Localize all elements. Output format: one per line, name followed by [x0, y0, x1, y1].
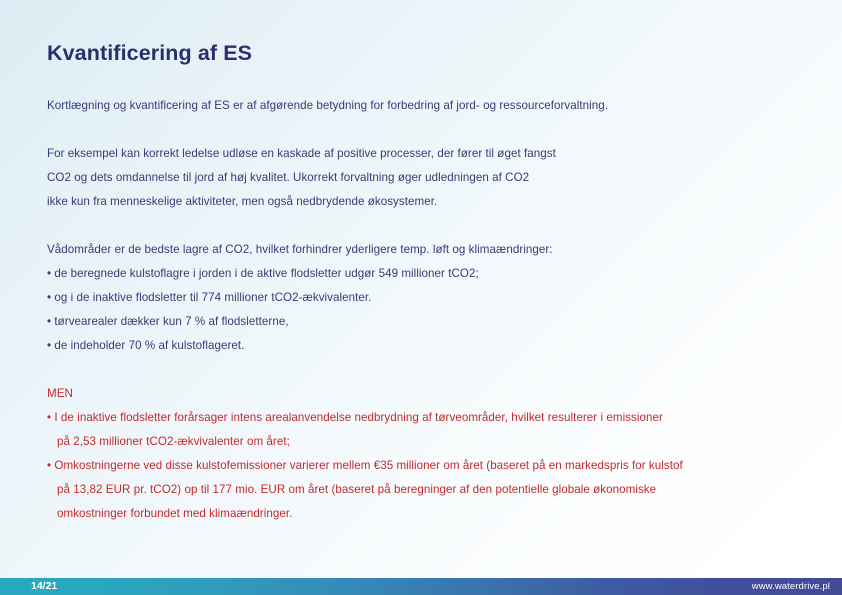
wetlands-bullet-3: • tørvearealer dækker kun 7 % af flodsle… — [47, 310, 802, 334]
warning-bullet-2-line-3: omkostninger forbundet med klimaændringe… — [47, 502, 802, 526]
wetlands-bullet-2: • og i de inaktive flodsletter til 774 m… — [47, 286, 802, 310]
slide-text-content: Kortlægning og kvantificering af ES er a… — [47, 94, 802, 526]
spacer — [47, 214, 802, 238]
spacer — [47, 358, 802, 382]
example-line-3: ikke kun fra menneskelige aktiviteter, m… — [47, 190, 802, 214]
wetlands-bullet-1: • de beregnede kulstoflagre i jorden i d… — [47, 262, 802, 286]
slide-content-area: Kvantificering af ES Kortlægning og kvan… — [47, 41, 802, 526]
example-line-2: CO2 og dets omdannelse til jord af høj k… — [47, 166, 802, 190]
warning-bullet-2-line-2: på 13,82 EUR pr. tCO2) op til 177 mio. E… — [47, 478, 802, 502]
intro-line: Kortlægning og kvantificering af ES er a… — [47, 94, 802, 118]
wetlands-lead-line: Vådområder er de bedste lagre af CO2, hv… — [47, 238, 802, 262]
warning-heading: MEN — [47, 382, 802, 406]
presentation-slide: Kvantificering af ES Kortlægning og kvan… — [0, 0, 842, 595]
page-title: Kvantificering af ES — [47, 41, 802, 67]
intro-paragraph: Kortlægning og kvantificering af ES er a… — [47, 94, 802, 118]
page-number: 14/21 — [31, 581, 57, 592]
warning-bullet-2-line-1: • Omkostningerne ved disse kulstofemissi… — [47, 454, 802, 478]
slide-footer: 14/21 www.waterdrive.pl — [0, 578, 842, 595]
wetlands-bullet-4: • de indeholder 70 % af kulstoflageret. — [47, 334, 802, 358]
footer-website-url: www.waterdrive.pl — [752, 582, 830, 592]
example-paragraph: For eksempel kan korrekt ledelse udløse … — [47, 142, 802, 214]
warning-section: MEN • I de inaktive flodsletter forårsag… — [47, 382, 802, 526]
warning-bullet-1-line-2: på 2,53 millioner tCO2-ækvivalenter om å… — [47, 430, 802, 454]
wetlands-section: Vådområder er de bedste lagre af CO2, hv… — [47, 238, 802, 358]
warning-bullet-1-line-1: • I de inaktive flodsletter forårsager i… — [47, 406, 802, 430]
example-line-1: For eksempel kan korrekt ledelse udløse … — [47, 142, 802, 166]
spacer — [47, 118, 802, 142]
